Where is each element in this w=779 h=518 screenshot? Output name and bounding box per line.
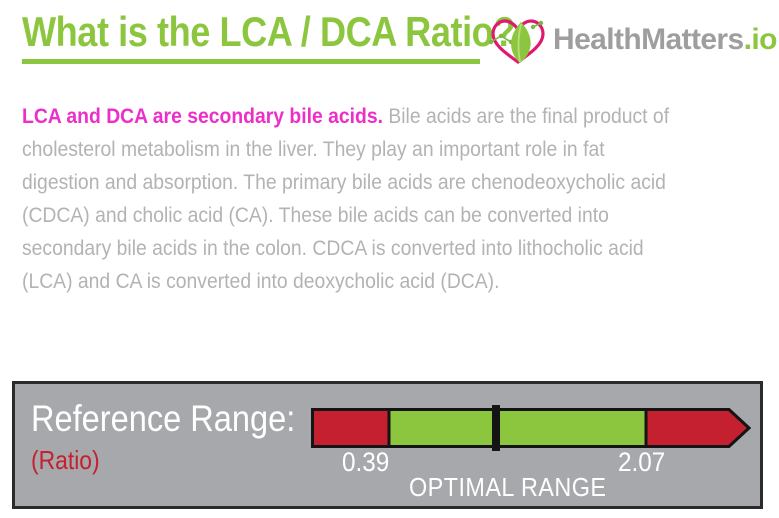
heart-leaf-logo-icon [487,17,549,65]
article-body-text: Bile acids are the final product of chol… [22,104,669,293]
reference-range-label: Reference Range: [31,398,295,440]
gauge-low-value: 0.39 [342,447,389,477]
reference-range-unit: (Ratio) [31,445,100,475]
gauge-segment-optimal [389,410,646,447]
logo-tld-text: .io [744,23,777,56]
page-title: What is the LCA / DCA Ratio? [22,8,515,56]
gauge-segment-low [313,410,390,447]
site-logo[interactable]: HealthMatters.io [487,17,772,65]
gauge-segment-high [646,410,749,447]
reference-range-panel: Reference Range: (Ratio) 0.39 2.07 OPTIM… [12,381,763,509]
reference-range-gauge [311,405,751,451]
article-paragraph: LCA and DCA are secondary bile acids. Bi… [22,100,684,298]
logo-wordmark: HealthMatters.io [553,21,777,59]
title-underline [22,59,480,64]
current-value-marker-icon [492,405,500,451]
page-header: What is the LCA / DCA Ratio? [0,0,779,80]
gauge-optimal-caption: OPTIMAL RANGE [409,472,606,502]
logo-brand-text: HealthMatters [553,23,744,56]
article-lead-sentence: LCA and DCA are secondary bile acids. [22,104,383,128]
gauge-high-value: 2.07 [618,447,665,477]
